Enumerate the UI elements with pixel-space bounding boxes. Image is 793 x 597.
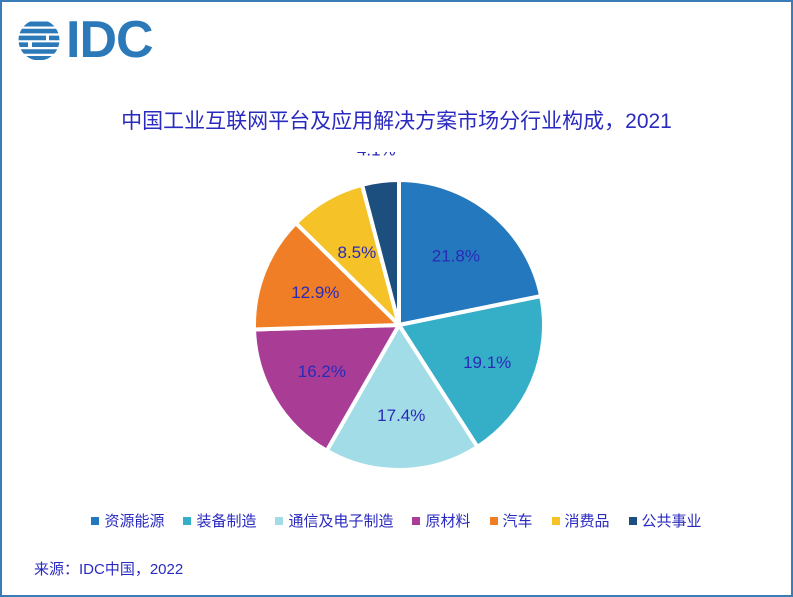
legend-item[interactable]: 原材料 [412,510,470,531]
legend-swatch-icon [275,517,283,525]
legend-item[interactable]: 消费品 [552,510,610,531]
pie-chart-svg: 21.8%19.1%17.4%16.2%12.9%8.5%4.1% [89,152,709,492]
legend-item-label: 通信及电子制造 [288,510,393,531]
pie-slice-label: 17.4% [377,406,425,425]
brand-header: IDC [16,12,153,68]
legend-swatch-icon [552,517,560,525]
legend-item[interactable]: 通信及电子制造 [275,510,393,531]
legend-item-label: 公共事业 [642,510,702,531]
legend-item-label: 资源能源 [104,510,164,531]
slide-page: IDC 中国工业互联网平台及应用解决方案市场分行业构成，2021 21.8%19… [0,0,793,597]
legend-swatch-icon [91,517,99,525]
pie-chart: 21.8%19.1%17.4%16.2%12.9%8.5%4.1% [2,152,793,502]
legend-swatch-icon [629,517,637,525]
legend-item-label: 装备制造 [196,510,256,531]
pie-slice-label: 21.8% [431,246,479,265]
legend-item-label: 汽车 [503,510,533,531]
chart-legend: 资源能源装备制造通信及电子制造原材料汽车消费品公共事业 [2,510,791,531]
legend-item-label: 原材料 [425,510,470,531]
pie-slice-label: 19.1% [463,353,511,372]
legend-item[interactable]: 公共事业 [629,510,702,531]
legend-swatch-icon [183,517,191,525]
idc-globe-icon [16,17,62,63]
pie-slice-label: 4.1% [356,152,395,160]
legend-swatch-icon [412,517,420,525]
legend-item[interactable]: 资源能源 [91,510,164,531]
legend-swatch-icon [490,517,498,525]
pie-slices [254,180,544,470]
legend-item[interactable]: 汽车 [490,510,533,531]
chart-title: 中国工业互联网平台及应用解决方案市场分行业构成，2021 [2,105,791,135]
pie-slice-label: 16.2% [297,362,345,381]
pie-slice-label: 8.5% [337,243,376,262]
legend-item[interactable]: 装备制造 [183,510,256,531]
pie-slice-label: 12.9% [291,283,339,302]
legend-item-label: 消费品 [565,510,610,531]
source-note: 来源：IDC中国，2022 [34,558,183,579]
idc-logo-text: IDC [66,17,153,63]
